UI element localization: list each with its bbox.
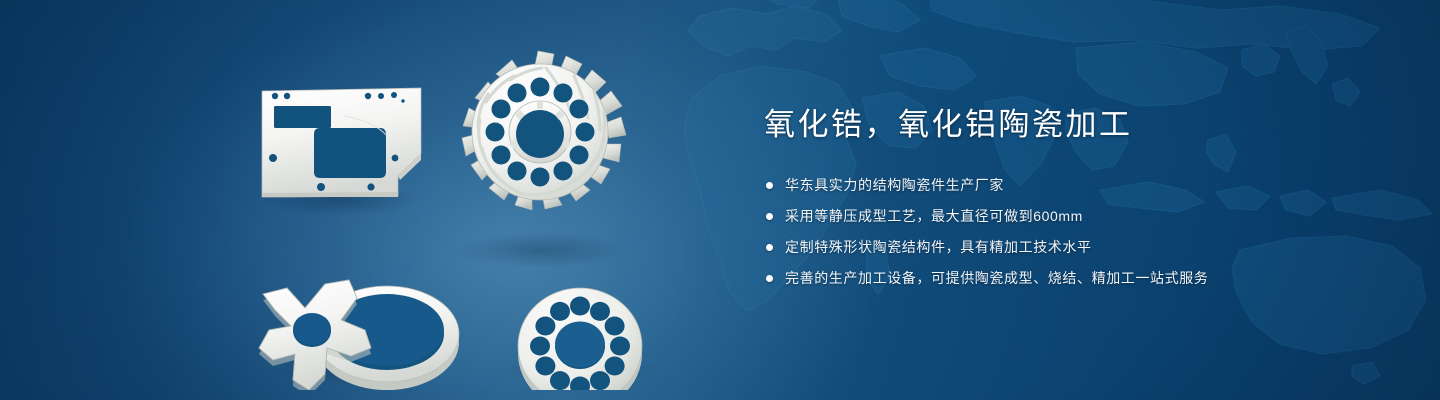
list-item: 华东具实力的结构陶瓷件生产厂家 bbox=[766, 175, 1324, 196]
list-item: 完善的生产加工设备，可提供陶瓷成型、烧结、精加工一站式服务 bbox=[766, 268, 1324, 289]
bullet-dot-icon bbox=[766, 244, 773, 251]
feature-text: 完善的生产加工设备，可提供陶瓷成型、烧结、精加工一站式服务 bbox=[785, 268, 1208, 289]
list-item: 定制特殊形状陶瓷结构件，具有精加工技术水平 bbox=[766, 237, 1324, 258]
bullet-dot-icon bbox=[766, 275, 773, 282]
page-title: 氧化锆，氧化铝陶瓷加工 bbox=[764, 104, 1324, 146]
ceramic-hole-disc-part bbox=[518, 288, 642, 390]
feature-text: 定制特殊形状陶瓷结构件，具有精加工技术水平 bbox=[785, 237, 1092, 258]
list-item: 采用等静压成型工艺，最大直径可做到600mm bbox=[766, 206, 1324, 227]
feature-text: 华东具实力的结构陶瓷件生产厂家 bbox=[785, 175, 1004, 196]
ceramic-impeller-part bbox=[462, 51, 626, 210]
bullet-dot-icon bbox=[766, 213, 773, 220]
ceramic-processing-banner: 氧化锆，氧化铝陶瓷加工 华东具实力的结构陶瓷件生产厂家 采用等静压成型工艺，最大… bbox=[0, 0, 1440, 400]
feature-list: 华东具实力的结构陶瓷件生产厂家 采用等静压成型工艺，最大直径可做到600mm 定… bbox=[766, 175, 1324, 289]
ceramic-plate-part bbox=[262, 88, 421, 197]
bullet-dot-icon bbox=[766, 182, 773, 189]
feature-text: 采用等静压成型工艺，最大直径可做到600mm bbox=[785, 206, 1083, 227]
ceramic-parts-photo bbox=[235, 50, 715, 390]
banner-copy: 氧化锆，氧化铝陶瓷加工 华东具实力的结构陶瓷件生产厂家 采用等静压成型工艺，最大… bbox=[764, 104, 1324, 299]
